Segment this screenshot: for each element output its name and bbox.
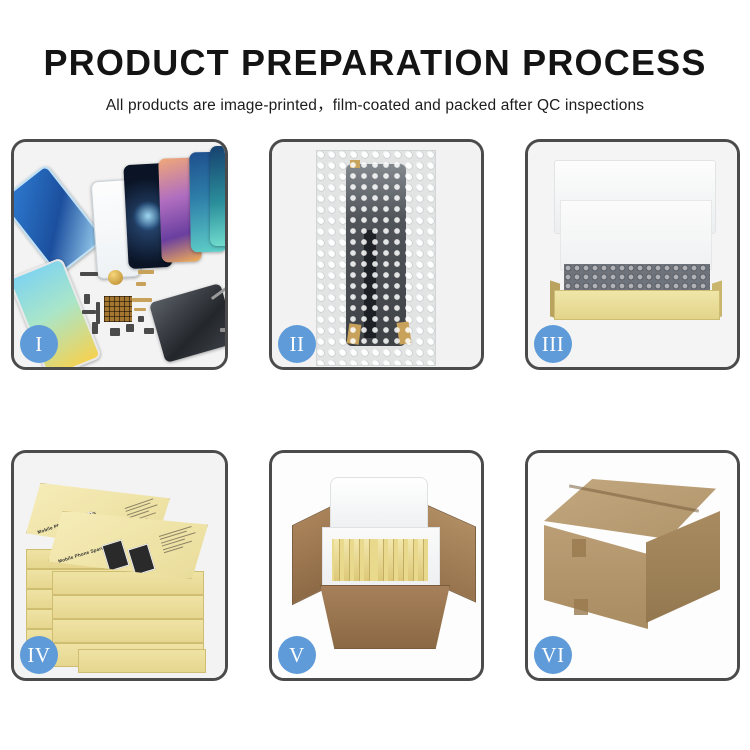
- step-panel-4[interactable]: Mobile Phone Spare Parts Mobile Phone Sp…: [11, 450, 228, 681]
- step-panel-3[interactable]: III: [525, 139, 740, 370]
- adhesive-tab: [350, 160, 360, 168]
- carton-body: [320, 585, 450, 649]
- process-step-grid: I II: [11, 139, 740, 681]
- phone-teal-display-2: [210, 146, 228, 246]
- page-subtitle: All products are image-printed，film-coat…: [0, 84, 750, 115]
- step-badge-2: II: [278, 325, 316, 363]
- flex-cable: [364, 230, 376, 338]
- foam-sheet: [560, 200, 712, 270]
- step-panel-1[interactable]: I: [11, 139, 228, 370]
- step-panel-5[interactable]: V: [269, 450, 484, 681]
- step-panel-6[interactable]: VI: [525, 450, 740, 681]
- step-badge-1: I: [20, 325, 58, 363]
- stacked-box-front-4: [52, 595, 204, 619]
- product-preparation-infographic: PRODUCT PREPARATION PROCESS All products…: [0, 0, 750, 750]
- carton-tape-upper: [572, 539, 586, 557]
- page-title: PRODUCT PREPARATION PROCESS: [0, 0, 750, 84]
- step-badge-6: VI: [534, 636, 572, 674]
- kraft-box-front: [554, 290, 720, 320]
- step-badge-3: III: [534, 325, 572, 363]
- packed-kraft-boxes: [332, 539, 428, 581]
- vibration-motor-part: [108, 270, 123, 285]
- step-badge-4: IV: [20, 636, 58, 674]
- header: PRODUCT PREPARATION PROCESS All products…: [0, 0, 750, 115]
- stacked-box-front-1: [78, 649, 206, 673]
- carton-tape-lower: [574, 599, 588, 615]
- step-badge-5: V: [278, 636, 316, 674]
- stacked-box-front-3: [52, 619, 204, 643]
- step-panel-2[interactable]: II: [269, 139, 484, 370]
- chip-array-part: [104, 296, 132, 322]
- wrapped-phone-part: [346, 164, 406, 346]
